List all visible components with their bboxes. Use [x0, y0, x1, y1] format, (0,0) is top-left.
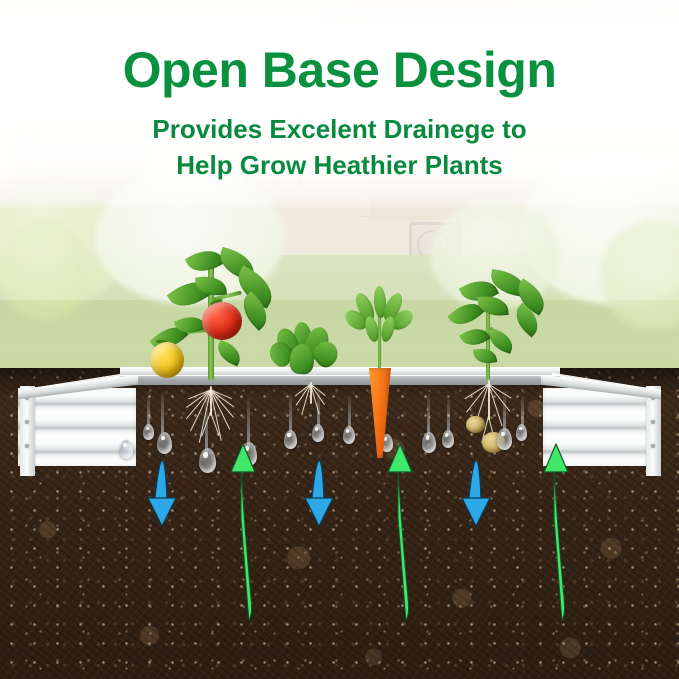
up-arrow-growth-1: [231, 444, 255, 620]
down-arrow-water-1: [148, 460, 176, 526]
down-arrow-water-3: [462, 460, 490, 526]
banner-text-block: Open Base Design Provides Excelent Drain…: [0, 44, 679, 184]
page-title: Open Base Design: [0, 44, 679, 97]
drainage-arrow-group: [0, 368, 679, 679]
product-feature-image: Open Base Design Provides Excelent Drain…: [0, 0, 679, 679]
up-arrow-growth-2: [388, 444, 412, 620]
subtitle-line-2: Help Grow Heathier Plants: [0, 147, 679, 183]
subtitle-line-1: Provides Excelent Drainege to: [0, 111, 679, 147]
tomato-plant: [130, 248, 280, 378]
down-arrow-water-2: [305, 460, 333, 526]
red-tomato: [202, 302, 242, 340]
carrot-top-foliage: [348, 286, 414, 370]
up-arrow-growth-3: [544, 444, 568, 620]
potato-plant: [432, 270, 562, 380]
